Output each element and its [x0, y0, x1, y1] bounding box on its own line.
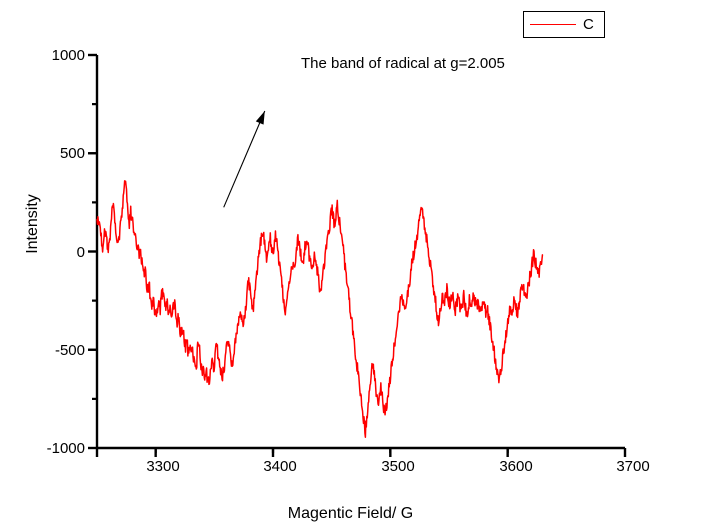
legend-label-c: C	[583, 16, 594, 33]
y-tick-label-minus1000: -1000	[24, 440, 85, 457]
y-tick-label-minus500: -500	[30, 342, 85, 359]
annotation-label: The band of radical at g=2.005	[301, 55, 505, 72]
y-axis-title: Intensity	[24, 174, 42, 274]
chart-container: 1000 500 0 -500 -1000 3300 3400 3500 360…	[0, 0, 713, 525]
x-tick-label-3300: 3300	[132, 458, 194, 475]
x-tick-label-3600: 3600	[485, 458, 547, 475]
x-tick-label-3500: 3500	[367, 458, 429, 475]
x-tick-label-3700: 3700	[602, 458, 664, 475]
legend-color-swatch	[530, 24, 576, 25]
plot-area	[0, 0, 713, 525]
x-axis-title: Magentic Field/ G	[0, 505, 713, 523]
legend-entry-c[interactable]: C	[524, 12, 604, 37]
x-axis-title-text: Magentic Field/ G	[288, 505, 413, 523]
annotation-arrow-line	[224, 111, 265, 207]
y-tick-label-500: 500	[30, 145, 85, 162]
x-tick-label-3400: 3400	[249, 458, 311, 475]
legend[interactable]: C	[523, 11, 605, 38]
y-tick-label-1000: 1000	[30, 47, 85, 64]
data-series-c	[97, 181, 542, 437]
annotation-arrow-head	[256, 111, 265, 125]
